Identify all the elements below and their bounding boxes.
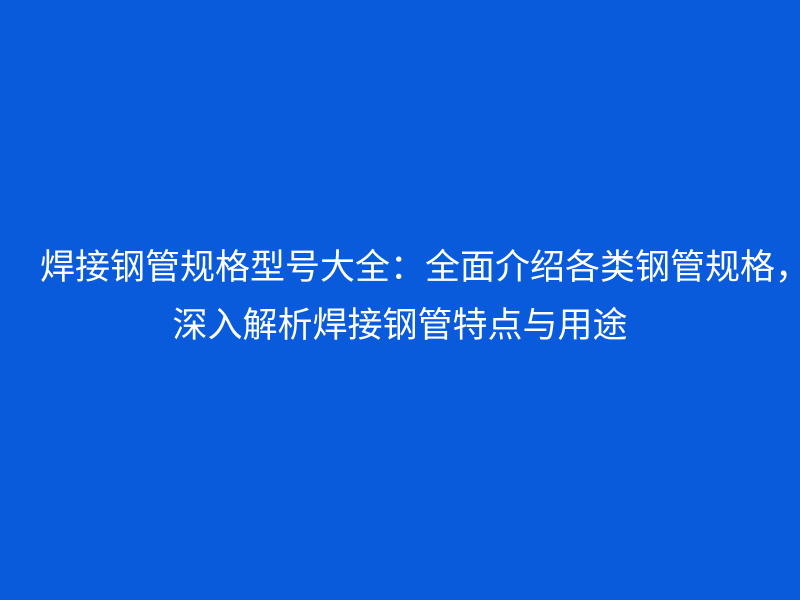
title-card-banner: 焊接钢管规格型号大全：全面介绍各类钢管规格， 深入解析焊接钢管特点与用途 <box>0 0 800 600</box>
page-title-line-2: 深入解析焊接钢管特点与用途 <box>40 297 760 355</box>
page-title: 焊接钢管规格型号大全：全面介绍各类钢管规格， 深入解析焊接钢管特点与用途 <box>40 239 760 355</box>
page-title-line-1: 焊接钢管规格型号大全：全面介绍各类钢管规格， <box>40 239 760 297</box>
